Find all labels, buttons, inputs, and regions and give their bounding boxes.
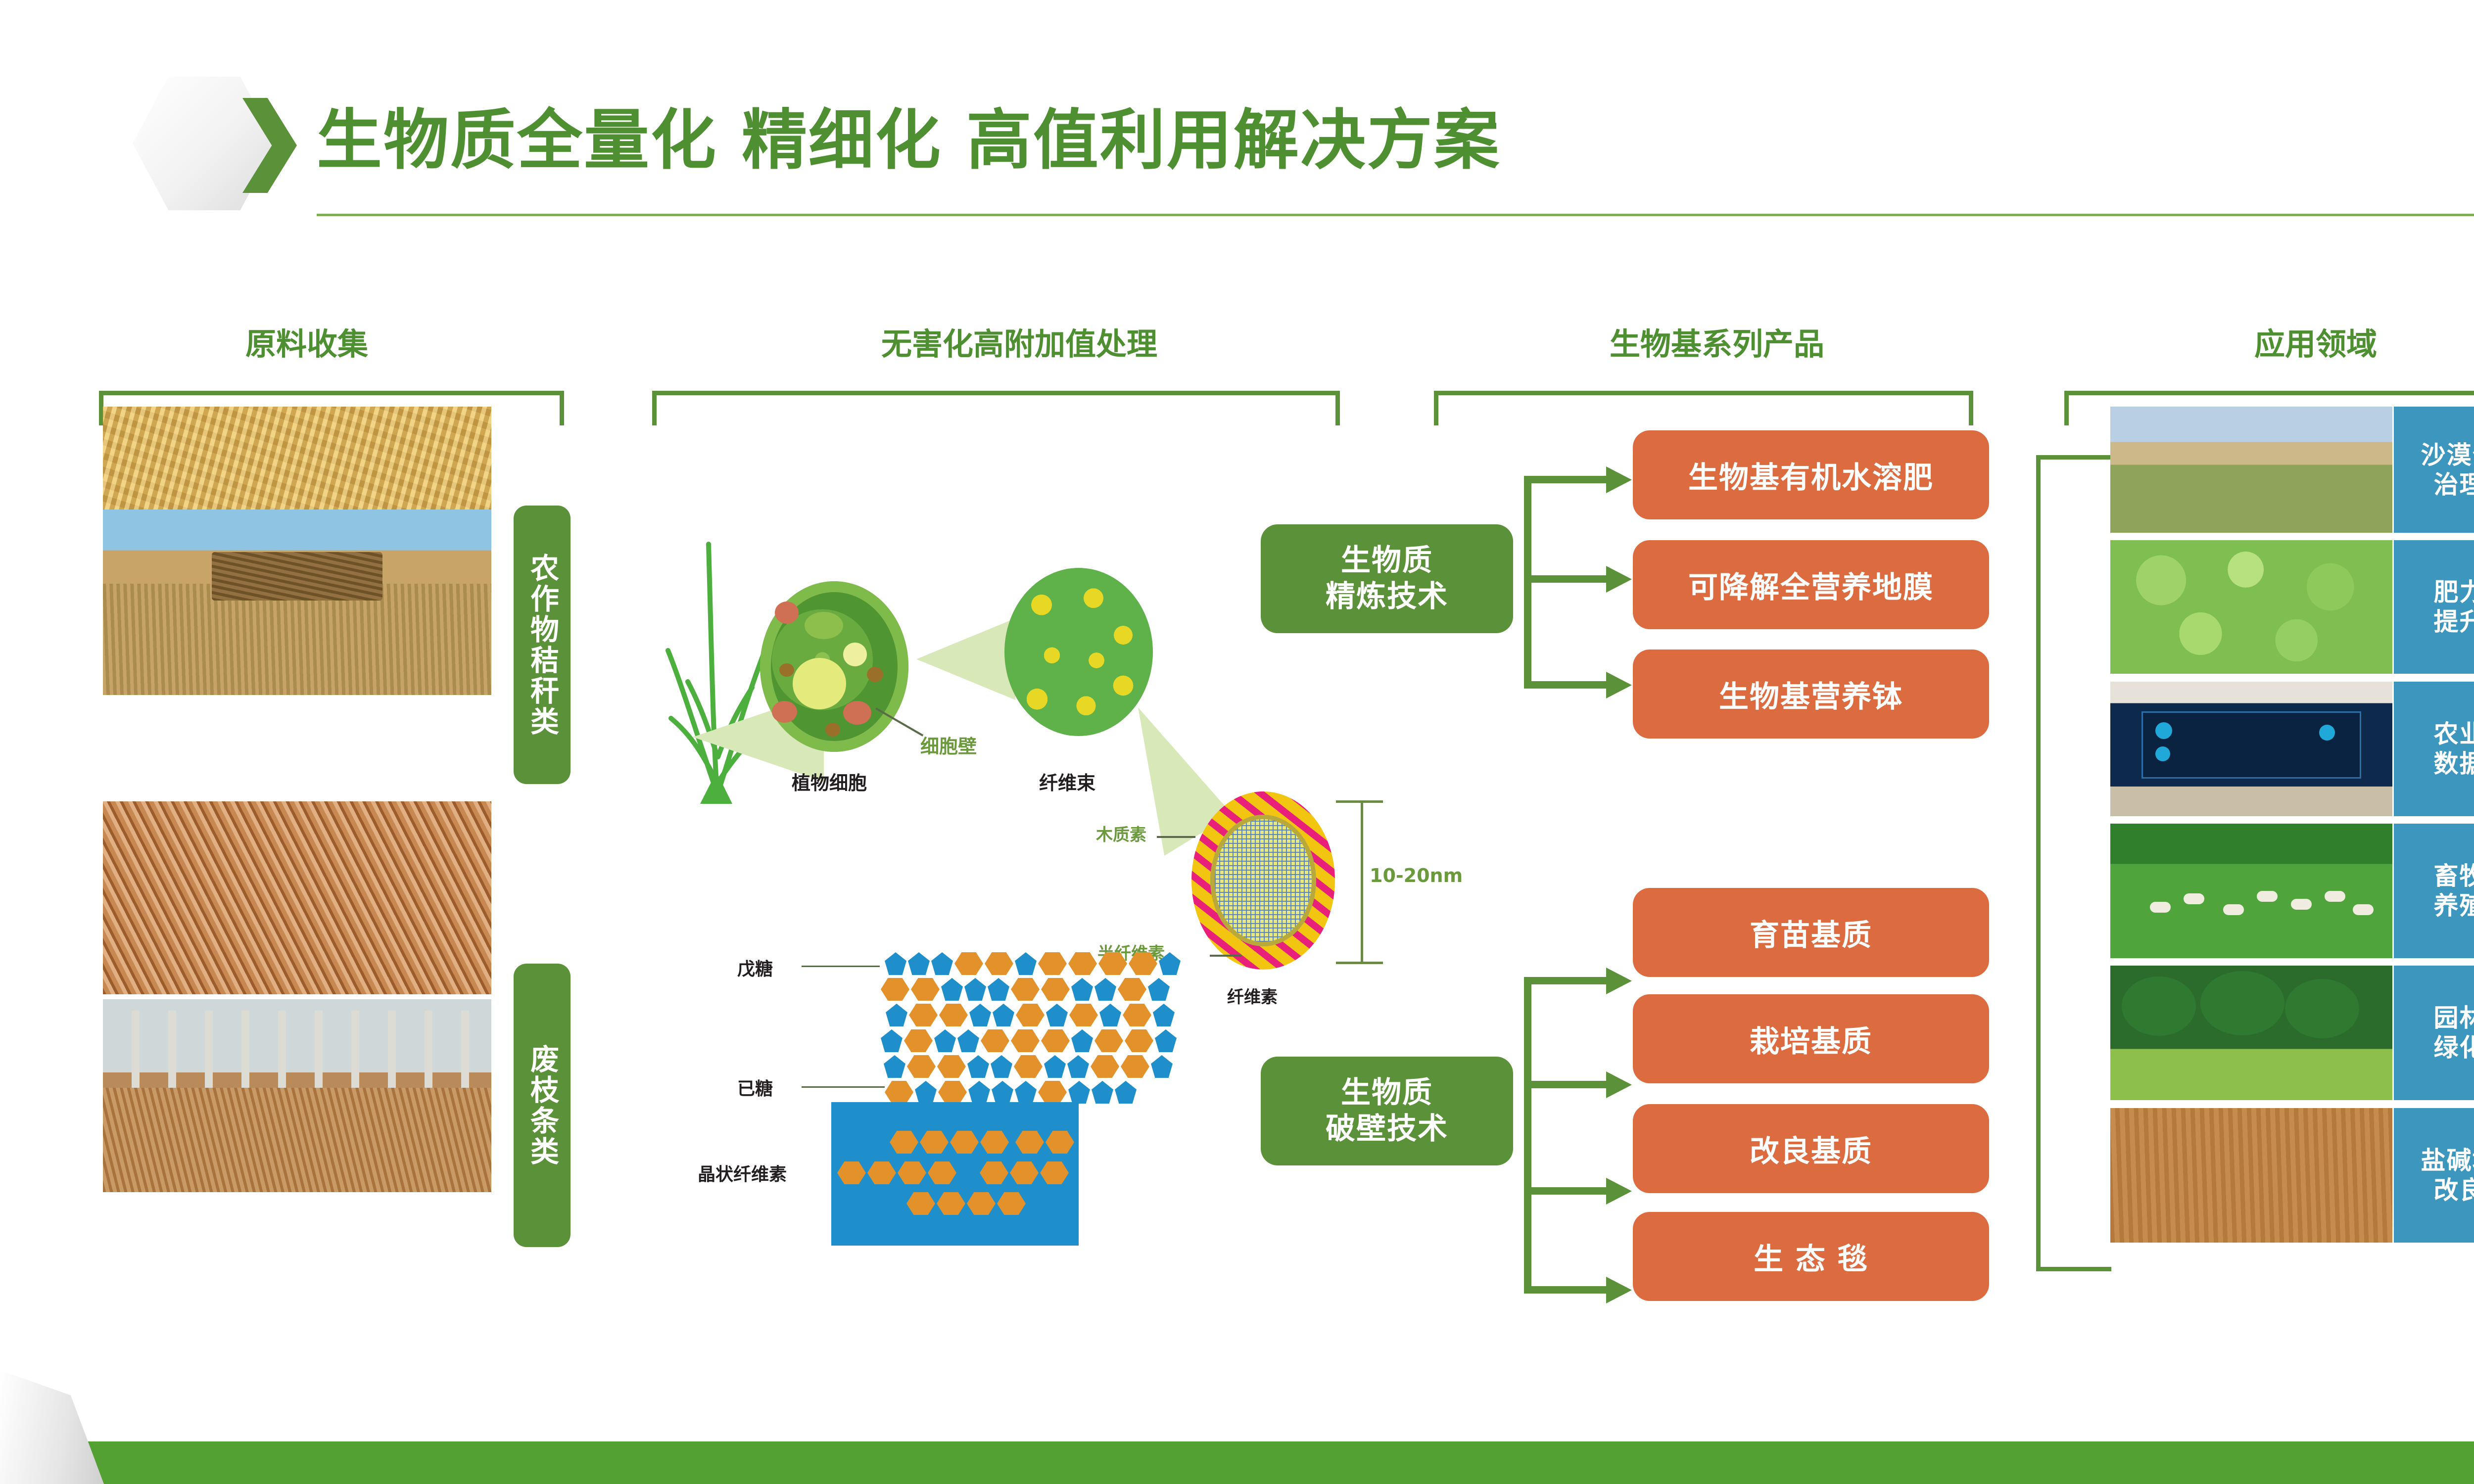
application-label-fertility-line2: 提升 <box>2434 607 2474 636</box>
hexose-unit <box>937 1192 965 1215</box>
section-title-products: 生物基系列产品 <box>1450 319 1984 364</box>
product-box-improvement-substrate[interactable]: 改良基质 <box>1633 1104 1989 1193</box>
trellis-posts-shape <box>103 1011 491 1092</box>
tech-box-refining-line2: 精炼技术 <box>1326 579 1448 615</box>
sheep-shape <box>2257 891 2278 902</box>
section-title-applications: 应用领域 <box>2098 319 2474 364</box>
hexose-unit <box>1123 1004 1151 1026</box>
straw-bale-shape <box>212 552 382 601</box>
sheep-shape <box>2223 904 2244 915</box>
hexose-unit <box>1015 1131 1044 1154</box>
sugar-row <box>1015 1131 1074 1154</box>
hexose-unit <box>1121 1055 1149 1078</box>
fiber-bundle-illustration <box>1004 568 1153 736</box>
cellulose-core-shape <box>1210 815 1317 946</box>
pentose-unit <box>964 978 986 1001</box>
tech-box-wallbreaking-line2: 破壁技术 <box>1326 1111 1448 1147</box>
hexose-unit <box>881 978 909 1001</box>
connector-spine-wallbreaking <box>1524 977 1531 1294</box>
pruned-ground-texture <box>103 1088 491 1192</box>
pentose-unit <box>1071 1029 1093 1052</box>
pentose-unit <box>1015 952 1037 975</box>
applications-bracket <box>2036 455 2111 1271</box>
hexose-unit <box>997 1192 1026 1215</box>
pentose-unit <box>934 1029 956 1052</box>
hexose-unit <box>939 1004 968 1026</box>
sugar-row <box>890 1131 1009 1154</box>
pentose-unit <box>1044 1055 1066 1078</box>
pentose-unit <box>1115 1081 1137 1104</box>
connector-arm-wallbreaking-4 <box>1524 1286 1608 1294</box>
dimension-line-vertical <box>1361 800 1363 964</box>
pentose-unit <box>968 1081 990 1104</box>
list-item <box>103 999 491 1192</box>
hexose-unit <box>1118 978 1146 1001</box>
application-label-livestock-line2: 养殖 <box>2434 891 2474 920</box>
magnify-cone-2 <box>916 618 1015 700</box>
header-band: 生物质全量化 精细化 高值利用解决方案 <box>0 0 2474 232</box>
hemicellulose-leader-line <box>1210 955 1241 957</box>
connector-arm-refining-2 <box>1524 575 1608 583</box>
list-item <box>2110 540 2392 674</box>
footer-accent-shape <box>0 1370 104 1484</box>
hexose-unit <box>890 1131 918 1154</box>
dimension-tick-top <box>1336 800 1383 803</box>
sugar-row <box>884 1055 1173 1078</box>
section-title-processing: 无害化高附加值处理 <box>638 319 1400 364</box>
application-label-livestock[interactable]: 畜牧养殖 <box>2394 824 2474 958</box>
hexose-unit <box>1091 1055 1119 1078</box>
hexose-unit <box>898 1161 926 1184</box>
label-plant-cell: 植物细胞 <box>792 768 867 795</box>
connector-arm-wallbreaking-2 <box>1524 1081 1608 1088</box>
hexose-unit <box>1069 1004 1098 1026</box>
hexose-unit <box>1010 1161 1039 1184</box>
hexose-unit <box>1041 978 1070 1001</box>
connector-arm-wallbreaking-1 <box>1524 977 1608 984</box>
label-scale-10-20nm: 10-20nm <box>1370 865 1463 886</box>
pentose-unit <box>1151 1055 1173 1078</box>
hexose-unit <box>907 1055 936 1078</box>
pentose-unit <box>1153 1004 1175 1026</box>
arrow-head-wallbreaking-2 <box>1606 1071 1632 1098</box>
title-underline-divider <box>317 214 2474 216</box>
sugar-row <box>885 1081 1137 1104</box>
sheep-shape <box>2353 904 2374 915</box>
plastid-shape-3 <box>825 723 840 737</box>
hexose-unit <box>937 1055 966 1078</box>
plastid-shape-2 <box>779 663 794 677</box>
sugar-row <box>886 1004 1175 1026</box>
application-label-agri-data[interactable]: 农业数据 <box>2394 682 2474 816</box>
hexose-leader-line <box>802 1086 885 1088</box>
connector-arm-refining-1 <box>1524 476 1608 483</box>
chart-dot-icon <box>2155 746 2170 761</box>
sheep-shape <box>2291 899 2312 910</box>
section-title-feedstock: 原料收集 <box>89 319 524 364</box>
application-label-fertility[interactable]: 肥力提升 <box>2394 540 2474 674</box>
arrow-head-refining-2 <box>1606 566 1632 593</box>
hexose-unit <box>1041 1029 1070 1052</box>
label-cellulose: 纤维素 <box>1227 983 1278 1008</box>
list-item <box>103 510 491 695</box>
hexose-unit <box>885 1081 913 1104</box>
sheep-shape <box>2184 893 2204 904</box>
product-box-nutrient-pot[interactable]: 生物基营养钵 <box>1633 649 1989 739</box>
pentose-unit <box>885 952 906 975</box>
application-label-agri-data-line1: 农业 <box>2434 720 2474 748</box>
sugar-row <box>885 952 1181 975</box>
sheep-shape <box>2150 902 2171 913</box>
list-item <box>2110 682 2392 816</box>
application-label-saline-soil-line2: 改良 <box>2434 1176 2474 1205</box>
hexose-unit <box>1125 1029 1153 1052</box>
hexose-unit <box>906 1192 935 1215</box>
tree-canopy-shape <box>2285 979 2359 1038</box>
straw-stubble-texture <box>103 584 491 695</box>
tech-box-wallbreaking-line1: 生物质 <box>1341 1075 1433 1111</box>
plastid-shape-1 <box>867 667 883 682</box>
hexose-unit <box>920 1131 949 1154</box>
arrow-head-wallbreaking-4 <box>1606 1277 1632 1303</box>
product-box-biodegradable-mulch[interactable]: 可降解全营养地膜 <box>1633 540 1989 629</box>
application-label-desertification-line1: 沙漠化 <box>2421 441 2474 469</box>
label-lignin: 木质素 <box>1096 821 1146 845</box>
hexose-unit <box>985 952 1013 975</box>
sugar-row <box>881 978 1170 1001</box>
pentose-unit <box>1159 952 1181 975</box>
nucleus-shape <box>793 658 846 709</box>
pentose-unit <box>1015 1081 1037 1104</box>
application-label-landscaping-line1: 园林 <box>2434 1004 2474 1032</box>
hexose-unit <box>911 978 940 1001</box>
hexose-unit <box>904 1029 933 1052</box>
sheep-shape <box>2325 891 2345 902</box>
pentose-unit <box>967 1055 989 1078</box>
hexose-unit <box>1068 952 1097 975</box>
pentose-unit <box>915 1081 937 1104</box>
pentose-unit <box>1148 978 1170 1001</box>
sugar-row <box>980 1161 1069 1184</box>
label-fiber-bundle: 纤维束 <box>1039 768 1095 795</box>
pentose-unit <box>881 1029 903 1052</box>
chart-dot-icon <box>2155 722 2172 739</box>
pentose-leader-line <box>802 966 880 967</box>
connector-arm-wallbreaking-3 <box>1524 1187 1608 1195</box>
pentose-unit <box>957 1029 979 1052</box>
vacuole-shape <box>805 612 843 639</box>
section-bracket-products <box>1434 391 1973 425</box>
pentose-unit <box>1099 1004 1121 1026</box>
hexose-unit <box>980 1131 1009 1154</box>
tech-box-refining-line1: 生物质 <box>1341 543 1433 579</box>
sugar-row <box>881 1029 1177 1052</box>
lignin-leader-line <box>1157 836 1195 838</box>
hexose-unit <box>1038 952 1067 975</box>
sugar-chain-diagram <box>881 952 1118 1101</box>
hexose-unit <box>867 1161 896 1184</box>
arrow-head-wallbreaking-1 <box>1606 968 1632 994</box>
pentose-unit <box>1092 1081 1113 1104</box>
hexose-unit <box>837 1161 866 1184</box>
plant-cell-illustration <box>760 581 908 752</box>
list-item <box>2110 407 2392 533</box>
application-label-livestock-line1: 畜牧 <box>2434 862 2474 890</box>
chart-dot-icon <box>2319 725 2335 741</box>
hexose-unit <box>1098 952 1127 975</box>
product-box-eco-blanket[interactable]: 生 态 毯 <box>1633 1212 1989 1301</box>
tree-canopy-shape <box>2122 976 2196 1036</box>
crystalline-cellulose-panel <box>831 1102 1079 1246</box>
hexose-unit <box>1014 1055 1043 1078</box>
application-label-saline-soil[interactable]: 盐碱地改良 <box>2394 1108 2474 1243</box>
sidebar-item-waste-branch[interactable]: 废枝条类 <box>514 964 571 1247</box>
mitochondrion-shape-1 <box>775 602 799 624</box>
application-label-fertility-line1: 肥力 <box>2434 578 2474 606</box>
hexose-unit <box>980 1161 1008 1184</box>
pentose-unit <box>1071 978 1093 1001</box>
hexose-unit <box>1094 1029 1123 1052</box>
dimension-tick-bottom <box>1336 962 1383 964</box>
list-item <box>103 801 491 994</box>
product-box-soluble-fertilizer[interactable]: 生物基有机水溶肥 <box>1633 430 1989 519</box>
application-label-saline-soil-line1: 盐碱地 <box>2421 1146 2474 1175</box>
application-label-agri-data-line2: 数据 <box>2434 749 2474 778</box>
hexose-unit <box>1046 1131 1074 1154</box>
hexose-unit <box>954 952 983 975</box>
tech-box-refining[interactable]: 生物质 精炼技术 <box>1261 524 1513 633</box>
pentose-unit <box>931 952 953 975</box>
hexose-unit <box>1038 1081 1067 1104</box>
pentose-unit <box>991 1055 1012 1078</box>
hexose-unit <box>1011 978 1040 1001</box>
pentose-unit <box>1046 1004 1068 1026</box>
footer-bar <box>0 1441 2474 1484</box>
pentose-unit <box>941 978 963 1001</box>
application-label-desertification[interactable]: 沙漠化治理 <box>2394 407 2474 533</box>
pentose-unit <box>1067 1055 1089 1078</box>
chloroplast-shape <box>843 643 867 666</box>
hexose-unit <box>928 1161 956 1184</box>
hexose-unit <box>950 1131 979 1154</box>
connector-arm-refining-3 <box>1524 681 1608 689</box>
application-label-landscaping-line2: 绿化 <box>2434 1033 2474 1062</box>
sugar-row <box>837 1161 956 1184</box>
hexose-unit <box>981 1029 1009 1052</box>
tree-canopy-shape <box>2200 971 2284 1035</box>
hexose-unit <box>1040 1161 1069 1184</box>
list-item <box>2110 1108 2392 1243</box>
dashboard-screen-shape <box>2141 711 2362 779</box>
mitochondrion-shape-3 <box>772 701 797 723</box>
label-crystalline-cellulose: 晶状纤维素 <box>698 1160 787 1186</box>
hexose-unit <box>909 1004 938 1026</box>
list-item <box>2110 824 2392 958</box>
pentose-unit <box>886 1004 907 1026</box>
hexose-unit <box>1011 1029 1040 1052</box>
sidebar-item-crop-straw[interactable]: 农作物秸秆类 <box>514 506 571 784</box>
hexose-unit <box>967 1192 996 1215</box>
arrow-head-refining-3 <box>1606 672 1632 698</box>
pentose-unit <box>969 1004 991 1026</box>
pentose-unit <box>1068 1081 1090 1104</box>
list-item <box>2110 966 2392 1100</box>
hexose-unit <box>1016 1004 1045 1026</box>
pentose-unit <box>993 1004 1014 1026</box>
mitochondrion-shape-2 <box>843 701 871 725</box>
label-pentose: 戊糖 <box>737 955 773 980</box>
arrow-head-wallbreaking-3 <box>1606 1178 1632 1205</box>
label-cell-wall: 细胞壁 <box>920 731 977 758</box>
fiber-cross-section-illustration <box>1191 791 1335 970</box>
pentose-unit <box>884 1055 905 1078</box>
pentose-unit <box>1155 1029 1177 1052</box>
sugar-row <box>906 1192 1026 1215</box>
pentose-unit <box>1094 978 1116 1001</box>
arrow-head-refining-1 <box>1606 466 1632 493</box>
product-box-seedling-substrate[interactable]: 育苗基质 <box>1633 888 1989 977</box>
pentose-unit <box>988 978 1009 1001</box>
section-bracket-processing <box>652 391 1340 425</box>
hexose-unit <box>1129 952 1157 975</box>
application-label-landscaping[interactable]: 园林绿化 <box>2394 966 2474 1100</box>
pentose-unit <box>992 1081 1013 1104</box>
product-box-cultivation-substrate[interactable]: 栽培基质 <box>1633 994 1989 1083</box>
hexose-unit <box>938 1081 967 1104</box>
tech-box-wallbreaking[interactable]: 生物质 破壁技术 <box>1261 1057 1513 1165</box>
pentose-unit <box>908 952 930 975</box>
page-title: 生物质全量化 精细化 高值利用解决方案 <box>317 92 1501 178</box>
application-label-desertification-line2: 治理 <box>2434 470 2474 499</box>
label-hexose: 已糖 <box>737 1074 773 1100</box>
